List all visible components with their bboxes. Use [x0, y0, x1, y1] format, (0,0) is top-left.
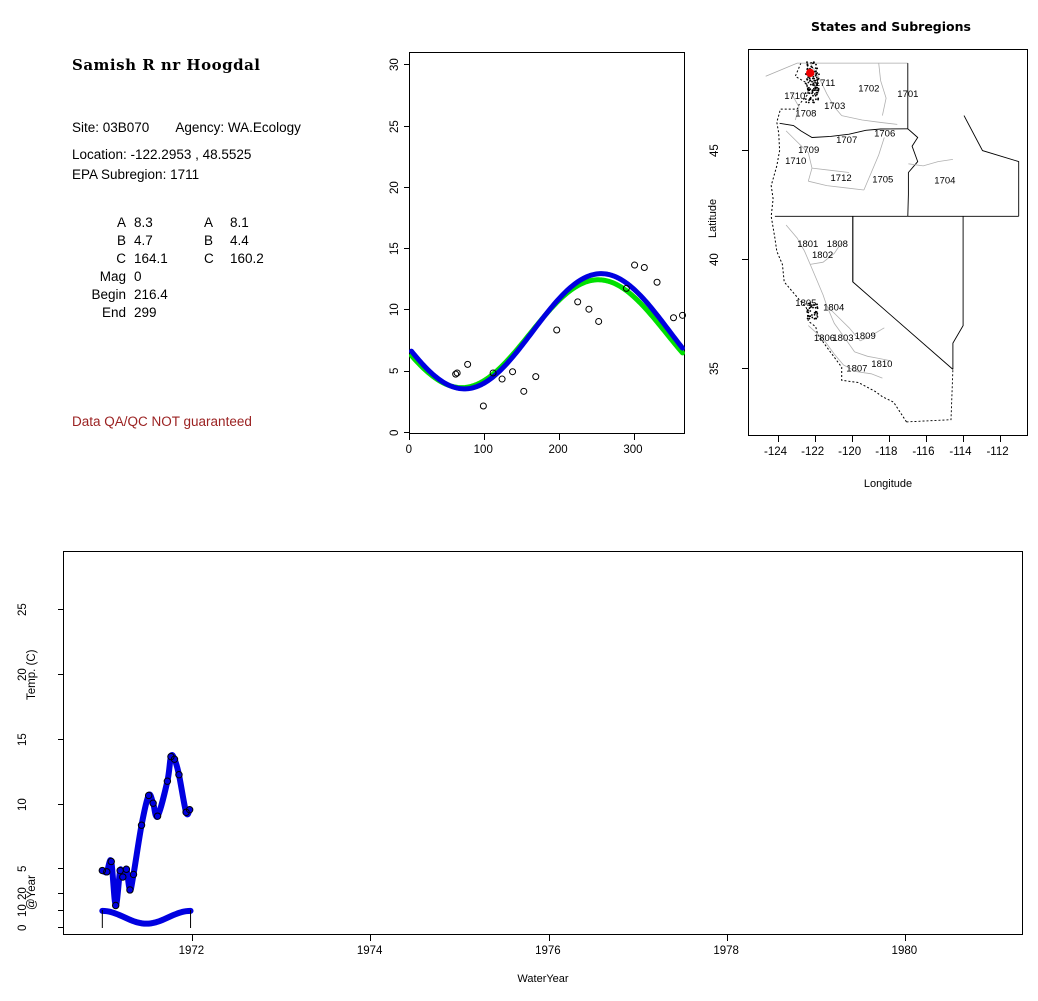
data-point: [533, 374, 539, 380]
axis-tick-label: 200: [549, 444, 568, 456]
site-dot: [811, 317, 813, 319]
site-dot: [812, 95, 814, 97]
subregion-label: 1803: [832, 333, 853, 344]
subregion-label: 1801: [797, 239, 818, 250]
parameter-row: C164.1C160.2: [72, 251, 264, 269]
axis-tick-label: -118: [875, 446, 897, 458]
site-dot: [816, 68, 818, 70]
timeseries-canvas: [64, 552, 1022, 934]
axis-tick-label: 45: [709, 144, 721, 157]
site-dot: [811, 314, 813, 316]
axis-tick: [58, 893, 64, 894]
site-dot: [811, 81, 813, 83]
subregion-label: 1712: [831, 173, 852, 184]
map-x-axis-title: Longitude: [748, 478, 1028, 490]
data-point: [499, 376, 505, 382]
axis-tick-label: 10: [17, 798, 29, 811]
data-point: [554, 327, 560, 333]
parameter-value: 299: [134, 305, 196, 323]
seasonal-y-axis: 051015202530: [380, 40, 410, 450]
timeseries-y-axis-title: Temp. (C): [26, 650, 38, 700]
parameter-value-alt: [230, 269, 264, 287]
site-dot: [807, 65, 809, 67]
site-dot: [805, 101, 807, 103]
site-dot: [816, 306, 818, 308]
axis-tick-label: -124: [764, 446, 787, 458]
subregion-label: 1706: [874, 128, 895, 139]
axis-tick-label: -116: [912, 446, 934, 458]
axis-tick: [963, 436, 964, 442]
site-dot: [812, 84, 814, 86]
parameter-value: 8.3: [134, 215, 196, 233]
site-dot: [809, 310, 811, 312]
site-dot: [808, 102, 810, 104]
axis-tick: [1000, 436, 1001, 442]
axis-tick: [370, 935, 371, 941]
subregion-label: 1702: [858, 84, 879, 95]
axis-tick: [727, 935, 728, 941]
axis-tick: [404, 309, 410, 310]
parameter-value-alt: [230, 305, 264, 323]
axis-tick-label: -112: [986, 446, 1008, 458]
subregion-label: 1805: [795, 298, 816, 309]
axis-tick-label: 25: [389, 120, 401, 133]
subregion-label: 1701: [897, 89, 918, 100]
site-agency-line: Site: 03B070Agency: WA.Ecology: [72, 120, 301, 135]
data-point: [680, 312, 686, 318]
data-point: [641, 265, 647, 271]
subregion-label: 1802: [812, 250, 833, 261]
axis-tick: [58, 609, 64, 610]
site-dot: [809, 78, 811, 80]
subregion-label: 1710: [784, 91, 805, 102]
model-parameters-table: A8.3A8.1B4.7B4.4C164.1C160.2Mag0Begin216…: [72, 215, 264, 323]
site-dot: [808, 99, 810, 101]
site-dot: [808, 316, 810, 318]
timeseries-x-axis-title: WaterYear: [63, 973, 1023, 985]
site-info-panel: Samish R nr Hoogdal Site: 03B070Agency: …: [0, 0, 375, 500]
site-dot: [816, 314, 818, 316]
parameter-key: Begin: [72, 287, 134, 305]
site-dot: [814, 89, 816, 91]
parameter-row: B4.7B4.4: [72, 233, 264, 251]
data-point: [632, 262, 638, 268]
axis-tick-label: 5: [389, 368, 401, 374]
site-dot: [807, 312, 809, 314]
axis-tick: [404, 64, 410, 65]
agency-label: Agency: WA.Ecology: [175, 120, 301, 135]
parameter-key-alt: C: [196, 251, 230, 269]
axis-tick: [778, 436, 779, 442]
axis-tick: [409, 434, 410, 440]
axis-tick: [634, 434, 635, 440]
data-point: [596, 318, 602, 324]
parameter-key: B: [72, 233, 134, 251]
data-point: [521, 388, 527, 394]
site-dot: [817, 99, 819, 101]
site-dot: [806, 61, 808, 63]
location-label: Location: -122.2953 , 48.5525: [72, 147, 251, 162]
axis-tick: [889, 436, 890, 442]
subregion-label: 1711: [815, 78, 835, 89]
axis-tick: [742, 150, 748, 151]
axis-tick: [58, 927, 64, 928]
subregion-label: 1703: [824, 101, 845, 112]
subregion-label: 1807: [846, 364, 867, 375]
site-dot: [812, 99, 814, 101]
subregion-label: 1810: [871, 359, 892, 370]
site-dot: [807, 318, 809, 320]
axis-tick: [192, 935, 193, 941]
parameter-value-alt: 8.1: [230, 215, 264, 233]
seasonal-x-axis: 0100200300: [400, 434, 700, 474]
map-y-axis: 354045: [700, 49, 748, 436]
site-dot: [814, 93, 816, 95]
parameter-key-alt: A: [196, 215, 230, 233]
data-point: [575, 299, 581, 305]
site-dot: [813, 102, 815, 104]
site-dot: [813, 61, 815, 63]
site-dot: [816, 72, 818, 74]
axis-tick-label: 100: [474, 444, 493, 456]
data-point: [480, 403, 486, 409]
site-dot: [817, 316, 819, 318]
subregion-label: 1708: [795, 109, 816, 120]
parameter-key: C: [72, 251, 134, 269]
site-dot: [814, 314, 816, 316]
subregion-label: 1705: [872, 174, 893, 185]
site-dot: [815, 318, 817, 320]
selected-site-marker: [806, 69, 814, 77]
parameter-value-alt: [230, 287, 264, 305]
annual-amplitude-line: [102, 911, 190, 924]
parameter-row: End299: [72, 305, 264, 323]
parameter-value: 164.1: [134, 251, 196, 269]
parameter-key-alt: [196, 287, 230, 305]
data-point: [671, 315, 677, 321]
seasonal-plot-canvas: [410, 53, 684, 433]
site-dot: [812, 92, 814, 94]
site-dot: [807, 309, 809, 311]
map-canvas: 1711170217011703171017081706170717091710…: [749, 50, 1027, 435]
axis-tick: [404, 248, 410, 249]
axis-tick-label: 35: [709, 363, 721, 376]
axis-tick-label: -122: [801, 446, 824, 458]
site-dot: [816, 94, 818, 96]
timeseries-plot: [63, 551, 1023, 935]
site-dot: [806, 63, 808, 65]
site-dot: [810, 80, 812, 82]
site-dot: [806, 85, 808, 87]
axis-tick: [404, 187, 410, 188]
axis-tick: [58, 739, 64, 740]
axis-tick: [905, 935, 906, 941]
parameter-key: End: [72, 305, 134, 323]
data-point: [454, 370, 460, 376]
axis-tick: [815, 436, 816, 442]
axis-tick: [404, 432, 410, 433]
axis-tick: [926, 436, 927, 442]
axis-tick: [58, 804, 64, 805]
parameter-row: A8.3A8.1: [72, 215, 264, 233]
states-subregions-map: 1711170217011703171017081706170717091710…: [748, 49, 1028, 436]
subregion-label: 1710: [785, 156, 806, 167]
axis-tick: [58, 868, 64, 869]
parameter-key-alt: [196, 269, 230, 287]
axis-tick-label: 40: [709, 253, 721, 266]
site-dot: [809, 318, 811, 320]
data-point: [510, 369, 516, 375]
site-dot: [808, 82, 810, 84]
site-dot: [810, 66, 812, 68]
qaqc-warning: Data QA/QC NOT guaranteed: [72, 414, 252, 429]
axis-tick-label: 20: [389, 181, 401, 194]
data-point: [586, 306, 592, 312]
axis-tick-label: -120: [838, 446, 861, 458]
parameter-key: A: [72, 215, 134, 233]
axis-tick: [852, 436, 853, 442]
site-dot: [817, 92, 819, 94]
subregion-label: 1704: [934, 175, 955, 186]
data-point: [465, 361, 471, 367]
parameter-key: Mag: [72, 269, 134, 287]
parameter-row: Mag0: [72, 269, 264, 287]
site-dot: [806, 79, 808, 81]
site-dot: [808, 89, 810, 91]
parameter-key-alt: B: [196, 233, 230, 251]
parameter-key-alt: [196, 305, 230, 323]
axis-tick-label: 5: [17, 865, 29, 871]
site-dot: [818, 73, 820, 75]
subregion-label: 1804: [823, 302, 844, 313]
fitted-curve-fit-blue: [412, 274, 683, 389]
site-dot: [810, 84, 812, 86]
axis-tick-label: -114: [949, 446, 971, 458]
parameter-value-alt: 160.2: [230, 251, 264, 269]
data-point: [654, 279, 660, 285]
axis-tick-label: 0: [17, 924, 29, 930]
axis-tick: [404, 126, 410, 127]
axis-tick-label: 25: [17, 603, 29, 616]
axis-tick-label: 15: [17, 733, 29, 746]
map-y-axis-title: Latitude: [707, 199, 719, 238]
temperature-trend-line: [102, 755, 189, 906]
site-dot: [816, 312, 818, 314]
site-dot: [810, 62, 812, 64]
site-dot: [815, 64, 817, 66]
axis-tick-label: 10: [389, 304, 401, 317]
axis-tick-label: 300: [623, 444, 642, 456]
axis-tick: [742, 259, 748, 260]
site-id-label: Site: 03B070: [72, 120, 149, 135]
axis-tick-label: 1978: [713, 945, 739, 957]
parameter-value: 4.7: [134, 233, 196, 251]
site-dot: [814, 312, 816, 314]
seasonal-cycle-plot: [409, 52, 685, 434]
site-dot: [812, 89, 814, 91]
axis-tick-label: 1974: [357, 945, 383, 957]
timeseries-y-axis-title-secondary: @Year: [26, 875, 38, 910]
subregion-label: 1707: [836, 135, 857, 146]
site-dot: [816, 89, 818, 91]
axis-tick: [549, 935, 550, 941]
axis-tick-label: 30: [389, 58, 401, 71]
axis-tick-label: 1976: [535, 945, 561, 957]
site-dot: [812, 78, 814, 80]
axis-tick-label: 1972: [179, 945, 205, 957]
axis-tick: [742, 368, 748, 369]
site-dot: [810, 98, 812, 100]
site-dot: [807, 92, 809, 94]
parameters-grid: A8.3A8.1B4.7B4.4C164.1C160.2Mag0Begin216…: [72, 215, 264, 323]
subregion-label: 1808: [827, 239, 848, 250]
subregion-label: 1809: [855, 331, 876, 342]
axis-tick: [404, 371, 410, 372]
axis-tick: [58, 910, 64, 911]
site-dot: [815, 75, 817, 77]
subregion-label: 1709: [798, 145, 819, 156]
parameter-value: 216.4: [134, 287, 196, 305]
axis-tick-label: 0: [406, 444, 412, 456]
parameter-value: 0: [134, 269, 196, 287]
site-dot: [815, 98, 817, 100]
page-title: Samish R nr Hoogdal: [72, 56, 261, 74]
map-title: States and Subregions: [746, 19, 1036, 34]
axis-tick: [58, 674, 64, 675]
parameter-value-alt: 4.4: [230, 233, 264, 251]
axis-tick: [484, 434, 485, 440]
axis-tick-label: 1980: [892, 945, 918, 957]
site-dot: [805, 83, 807, 85]
axis-tick-label: 15: [389, 242, 401, 255]
parameter-row: Begin216.4: [72, 287, 264, 305]
epa-subregion-label: EPA Subregion: 1711: [72, 167, 199, 182]
axis-tick: [559, 434, 560, 440]
